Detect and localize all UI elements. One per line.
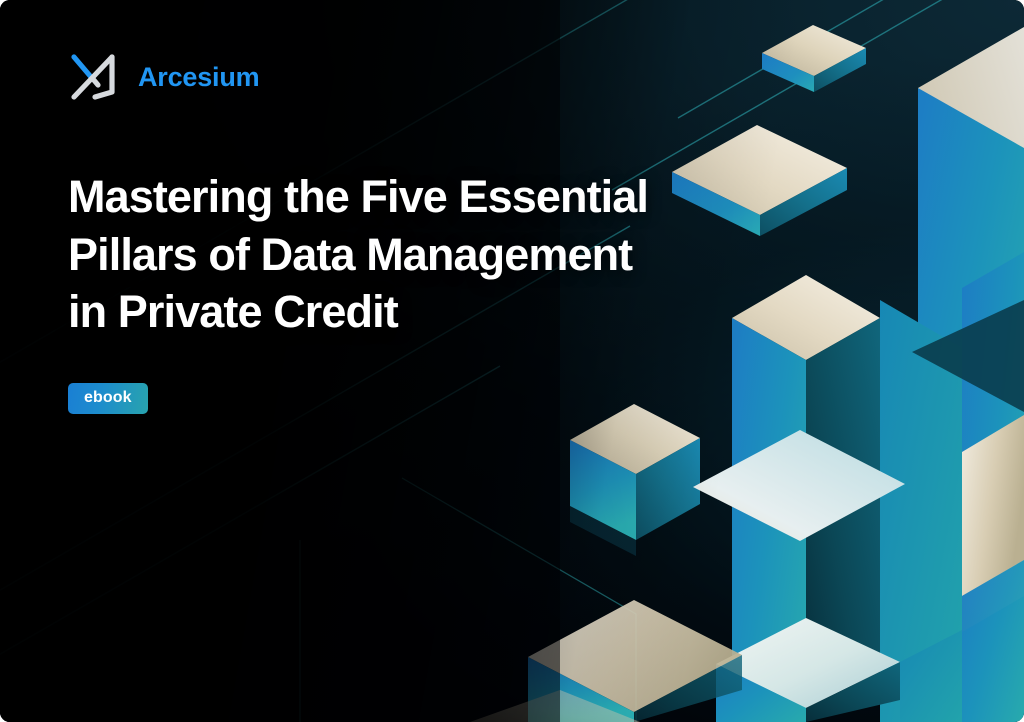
content-type-badge: ebook [68,383,148,414]
page-title: Mastering the Five Essential Pillars of … [68,168,668,341]
badge-row: ebook [68,383,688,414]
arcesium-x-mark-icon [68,51,120,103]
cover-content: Arcesium Mastering the Five Essential Pi… [68,48,688,414]
brand-lockup: Arcesium [68,48,688,106]
ebook-cover: Arcesium Mastering the Five Essential Pi… [0,0,1024,722]
brand-name: Arcesium [138,64,259,91]
